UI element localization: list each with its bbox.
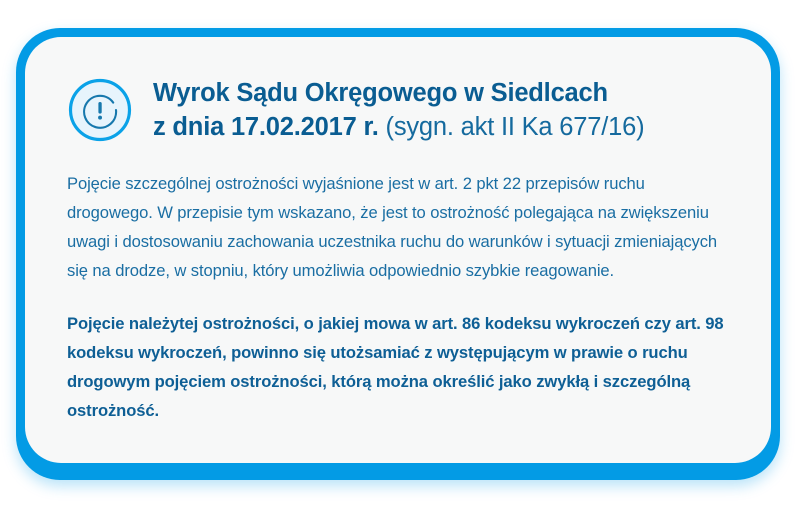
- card-title-line-2: z dnia 17.02.2017 r. (sygn. akt II Ka 67…: [153, 111, 729, 144]
- card-header: Wyrok Sądu Okręgowego w Siedlcach z dnia…: [67, 75, 729, 143]
- info-card-panel: Wyrok Sądu Okręgowego w Siedlcach z dnia…: [25, 37, 771, 463]
- screenshot-stage: Wyrok Sądu Okręgowego w Siedlcach z dnia…: [0, 0, 812, 515]
- card-body: Pojęcie szczególnej ostrożności wyjaśnio…: [67, 169, 729, 425]
- case-signature: (sygn. akt II Ka 677/16): [379, 113, 645, 141]
- judgment-date: z dnia 17.02.2017 r.: [153, 113, 379, 141]
- info-card: Wyrok Sądu Okręgowego w Siedlcach z dnia…: [16, 28, 780, 480]
- card-title-block: Wyrok Sądu Okręgowego w Siedlcach z dnia…: [153, 75, 729, 143]
- card-title-line-1: Wyrok Sądu Okręgowego w Siedlcach: [153, 77, 729, 110]
- paragraph-szczegolna-ostroznosc: Pojęcie szczególnej ostrożności wyjaśnio…: [67, 169, 729, 285]
- paragraph-nalezyta-ostroznosc: Pojęcie należytej ostrożności, o jakiej …: [67, 309, 729, 425]
- exclamation-circle-icon: [67, 77, 133, 143]
